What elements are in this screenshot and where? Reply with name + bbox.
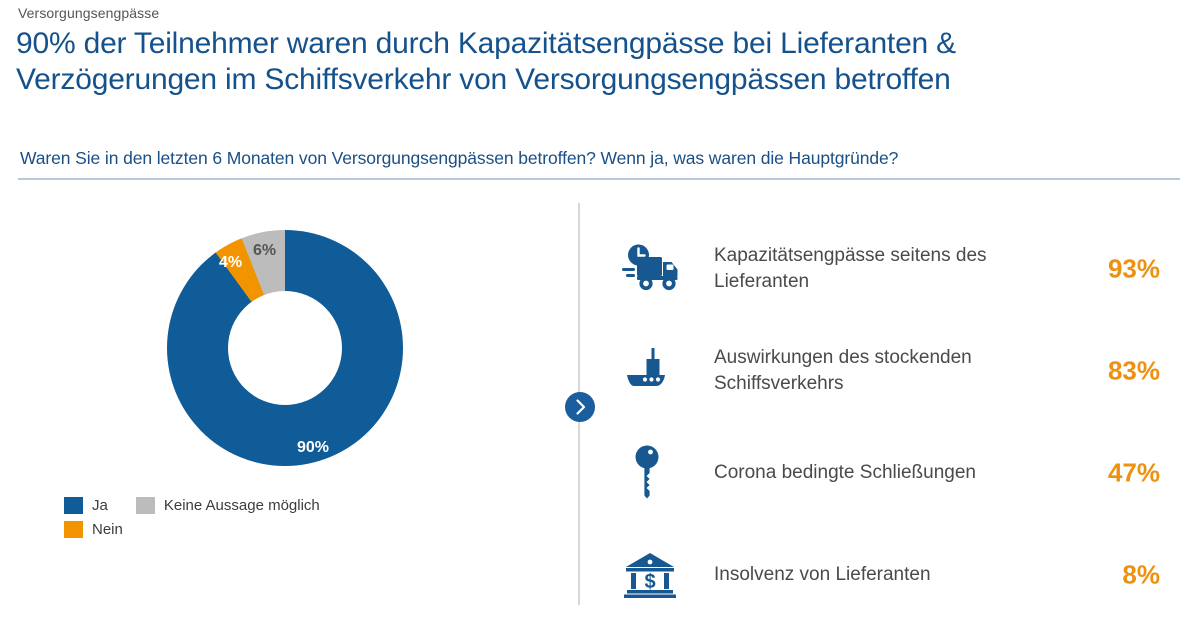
factor-label: Kapazitätsengpässe seitens des Lieferant… — [714, 243, 1084, 295]
factor-label: Auswirkungen des stockenden Schiffsverke… — [714, 345, 1084, 397]
page-title: 90% der Teilnehmer waren durch Kapazität… — [16, 26, 1186, 98]
legend-label-ja: Ja — [92, 497, 108, 514]
factor-value: 8% — [1122, 560, 1160, 591]
factor-row-corona-closures: Corona bedingte Schließungen 47% — [612, 422, 1172, 524]
eyebrow-label: Versorgungsengpässe — [18, 5, 159, 21]
delivery-truck-clock-icon — [620, 237, 684, 301]
survey-question: Waren Sie in den letzten 6 Monaten von V… — [20, 148, 898, 169]
cargo-ship-icon — [620, 339, 684, 403]
page-title-line-1: 90% der Teilnehmer waren durch Kapazität… — [16, 27, 956, 60]
donut-label-keine-aussage: 6% — [253, 242, 276, 260]
legend-label-keine-aussage: Keine Aussage möglich — [164, 497, 320, 514]
donut-hole — [228, 291, 342, 405]
legend-item-nein: Nein — [64, 521, 123, 538]
factor-label: Insolvenz von Lieferanten — [714, 562, 1084, 588]
factor-value: 93% — [1108, 254, 1160, 285]
donut-label-ja: 90% — [297, 439, 329, 457]
factor-value: 47% — [1108, 458, 1160, 489]
legend-item-ja: Ja — [64, 497, 108, 514]
page-title-line-2: Verzögerungen im Schiffsverkehr von Vers… — [16, 62, 1186, 98]
factor-value: 83% — [1108, 356, 1160, 387]
legend-swatch-blue — [64, 497, 83, 514]
svg-text:$: $ — [644, 571, 655, 593]
factor-list: Kapazitätsengpässe seitens des Lieferant… — [612, 218, 1172, 626]
legend-label-nein: Nein — [92, 521, 123, 538]
bank-insolvency-icon: $ — [620, 543, 684, 607]
legend-swatch-orange — [64, 521, 83, 538]
header-divider — [18, 178, 1180, 180]
chevron-right-icon — [565, 392, 595, 422]
factor-row-shipping-delays: Auswirkungen des stockenden Schiffsverke… — [612, 320, 1172, 422]
donut-chart: 90% 4% 6% — [167, 230, 403, 466]
key-icon — [620, 441, 684, 505]
legend-row-1: Ja Keine Aussage möglich — [64, 493, 320, 517]
legend-item-keine-aussage: Keine Aussage möglich — [136, 497, 320, 514]
legend-swatch-gray — [136, 497, 155, 514]
donut-label-nein: 4% — [219, 254, 242, 272]
legend-row-2: Nein — [64, 517, 320, 541]
factor-row-supplier-insolvency: $ Insolvenz von Lieferanten 8% — [612, 524, 1172, 626]
chart-legend: Ja Keine Aussage möglich Nein — [64, 493, 320, 541]
factor-label: Corona bedingte Schließungen — [714, 460, 1084, 486]
factor-row-supplier-capacity: Kapazitätsengpässe seitens des Lieferant… — [612, 218, 1172, 320]
